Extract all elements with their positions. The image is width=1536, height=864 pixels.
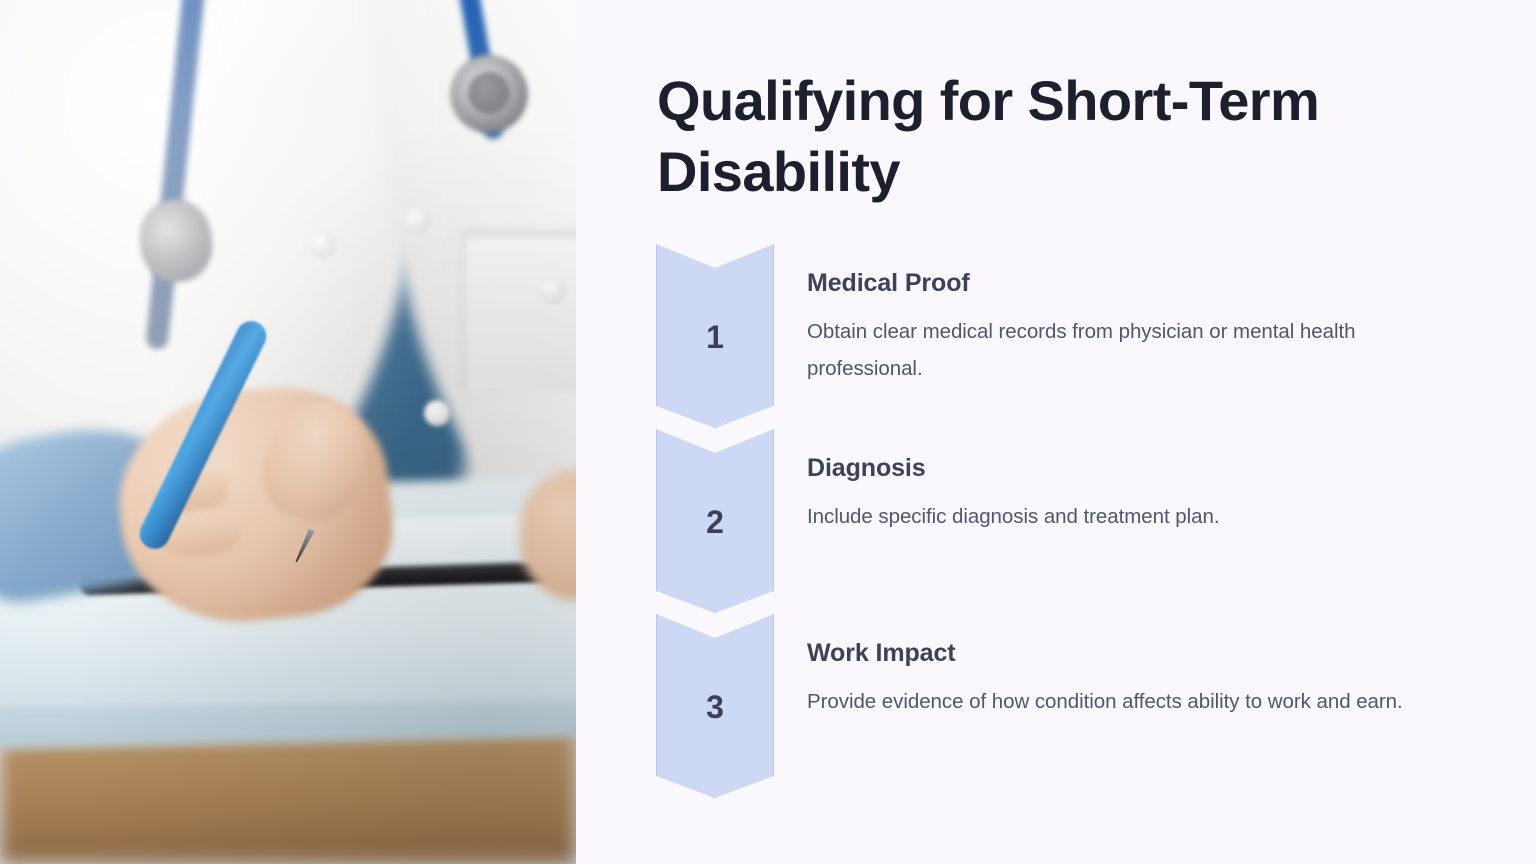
step-number: 3 xyxy=(706,691,724,723)
list-item[interactable]: 2 Diagnosis Include specific diagnosis a… xyxy=(576,429,1536,614)
step-description: Provide evidence of how condition affect… xyxy=(807,683,1447,720)
coat-button xyxy=(404,208,430,234)
step-description: Obtain clear medical records from physic… xyxy=(807,313,1447,388)
list-item[interactable]: 1 Medical Proof Obtain clear medical rec… xyxy=(576,244,1536,429)
coat-button xyxy=(310,232,336,258)
step-text-block: Work Impact Provide evidence of how cond… xyxy=(807,638,1447,720)
stethoscope-bell-inner xyxy=(468,72,510,114)
coat-pocket xyxy=(462,232,576,392)
step-number: 1 xyxy=(706,321,724,353)
step-title: Diagnosis xyxy=(807,453,1447,483)
steps-list: 1 Medical Proof Obtain clear medical rec… xyxy=(576,244,1536,799)
list-item[interactable]: 3 Work Impact Provide evidence of how co… xyxy=(576,614,1536,799)
coat-button xyxy=(424,400,450,426)
hero-photo xyxy=(0,0,576,864)
step-chevron-2: 2 xyxy=(656,429,774,613)
slide: Qualifying for Short-Term Disability 1 M… xyxy=(0,0,1536,864)
coat-button xyxy=(540,278,566,304)
step-text-block: Diagnosis Include specific diagnosis and… xyxy=(807,453,1447,535)
step-number: 2 xyxy=(706,506,724,538)
step-description: Include specific diagnosis and treatment… xyxy=(807,498,1447,535)
step-chevron-3: 3 xyxy=(656,614,774,798)
step-text-block: Medical Proof Obtain clear medical recor… xyxy=(807,268,1447,388)
step-title: Work Impact xyxy=(807,638,1447,668)
photo-stage xyxy=(0,0,576,864)
step-chevron-1: 1 xyxy=(656,244,774,428)
page-title: Qualifying for Short-Term Disability xyxy=(657,66,1417,207)
step-title: Medical Proof xyxy=(807,268,1447,298)
content-panel: Qualifying for Short-Term Disability 1 M… xyxy=(576,0,1536,864)
